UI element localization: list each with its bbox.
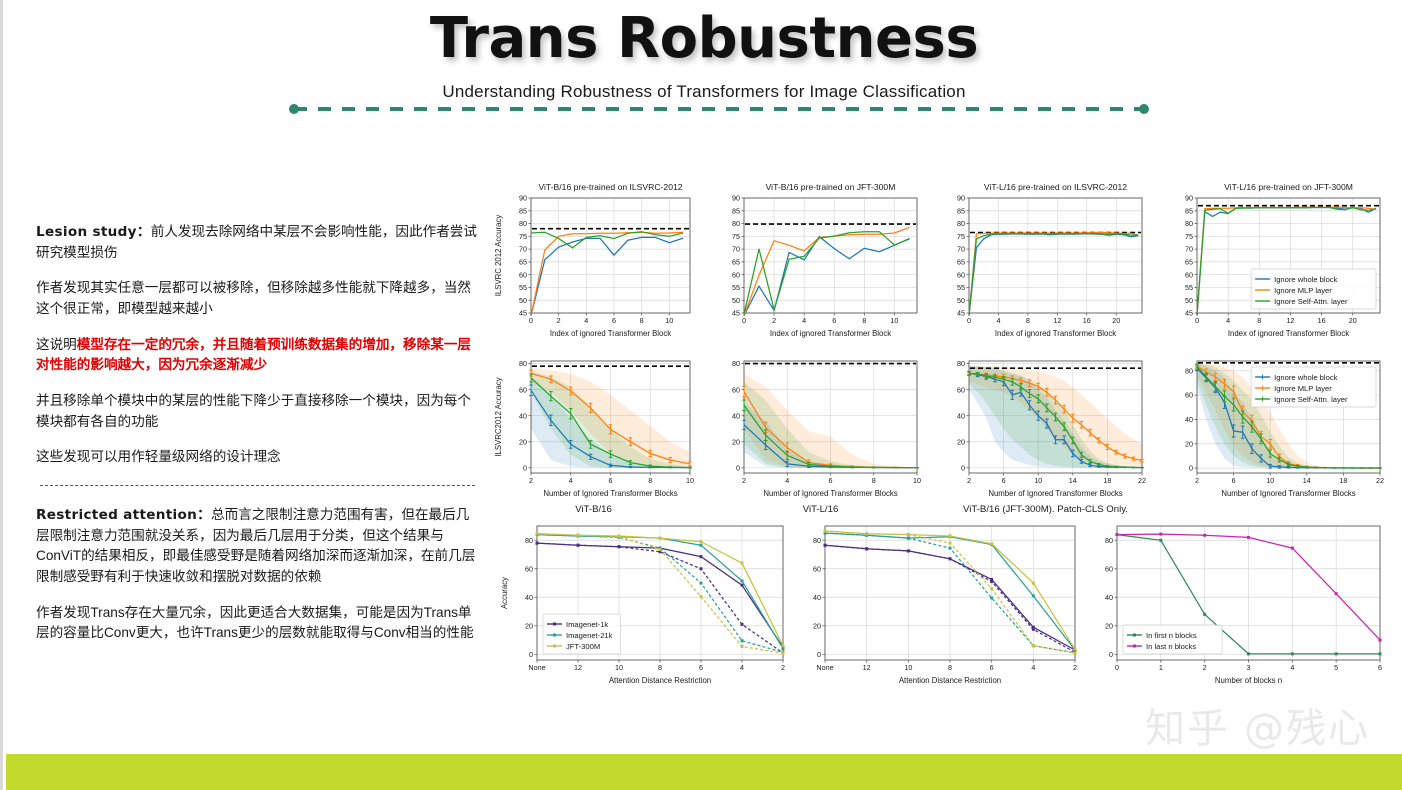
svg-text:85: 85 xyxy=(1185,206,1193,215)
svg-text:2: 2 xyxy=(1203,663,1207,672)
footer-bar xyxy=(6,754,1402,790)
note-block3: 这说明模型存在一定的冗余，并且随着预训练数据集的增加，移除某一层对性能的影响越大… xyxy=(36,335,479,376)
chart-svg-r3c2: 020406080None12108642Attention Distance … xyxy=(799,518,1081,690)
chart-r2c2: 020406080246810Number of Ignored Transfo… xyxy=(718,353,923,503)
svg-text:Number of Ignored Transformer: Number of Ignored Transformer Blocks xyxy=(988,489,1122,498)
svg-text:ViT-L/16 pre-trained on ILSVRC: ViT-L/16 pre-trained on ILSVRC-2012 xyxy=(984,182,1127,192)
svg-text:2: 2 xyxy=(529,476,533,485)
svg-text:75: 75 xyxy=(1185,232,1193,241)
svg-text:55: 55 xyxy=(957,283,965,292)
section-separator xyxy=(40,485,475,486)
svg-text:6: 6 xyxy=(612,316,616,325)
svg-text:4: 4 xyxy=(740,663,744,672)
svg-text:0: 0 xyxy=(529,316,533,325)
svg-text:Number of blocks n: Number of blocks n xyxy=(1215,676,1282,685)
svg-text:0: 0 xyxy=(1115,663,1119,672)
svg-text:6: 6 xyxy=(609,476,613,485)
svg-text:60: 60 xyxy=(519,385,527,394)
chart-r1c3: 45505560657075808590048121620Index of ig… xyxy=(943,178,1148,343)
svg-text:6: 6 xyxy=(832,316,836,325)
svg-text:80: 80 xyxy=(525,536,533,545)
note-lesion-study: Lesion study：前人发现去除网络中某层不会影响性能，因此作者尝试研究模… xyxy=(36,222,479,263)
svg-text:85: 85 xyxy=(957,206,965,215)
chart-svg-r1c1: 455055606570758085900246810Index of igno… xyxy=(491,178,696,343)
chart-caption-r2c3: ViT-B/16 (JFT-300M). Patch-CLS Only. xyxy=(943,504,1148,515)
svg-text:60: 60 xyxy=(1105,564,1113,573)
svg-text:4: 4 xyxy=(1226,316,1230,325)
svg-text:80: 80 xyxy=(1105,536,1113,545)
page-title: Trans Robustness xyxy=(3,6,1402,71)
svg-text:10: 10 xyxy=(1266,476,1274,485)
note-block5: 这些发现可以用作轻量级网络的设计理念 xyxy=(36,447,479,468)
svg-text:6: 6 xyxy=(1232,476,1236,485)
chart-r2c3: 0204060802610141822Number of Ignored Tra… xyxy=(943,353,1148,503)
svg-text:8: 8 xyxy=(658,663,662,672)
chart-svg-r1c3: 45505560657075808590048121620Index of ig… xyxy=(943,178,1148,343)
svg-text:12: 12 xyxy=(863,663,871,672)
svg-text:18: 18 xyxy=(1103,476,1111,485)
svg-text:50: 50 xyxy=(519,296,527,305)
slide-canvas: Trans Robustness Understanding Robustnes… xyxy=(0,0,1402,790)
note-restricted-attention-lead: Restricted attention： xyxy=(36,507,211,523)
svg-text:40: 40 xyxy=(525,593,533,602)
svg-text:ViT-B/16 pre-trained on ILSVRC: ViT-B/16 pre-trained on ILSVRC-2012 xyxy=(538,182,682,192)
svg-text:90: 90 xyxy=(957,194,965,203)
svg-text:45: 45 xyxy=(732,309,740,318)
svg-text:40: 40 xyxy=(957,411,965,420)
svg-text:4: 4 xyxy=(1031,663,1035,672)
svg-text:ILSVRC 2012 Accuracy: ILSVRC 2012 Accuracy xyxy=(494,215,503,297)
svg-text:20: 20 xyxy=(813,621,821,630)
svg-text:20: 20 xyxy=(1112,316,1120,325)
chart-r2c4: 0204060802610141822Number of Ignored Tra… xyxy=(1171,353,1386,503)
svg-text:85: 85 xyxy=(519,206,527,215)
svg-text:Accuracy: Accuracy xyxy=(500,577,509,609)
svg-text:70: 70 xyxy=(519,245,527,254)
svg-text:45: 45 xyxy=(957,309,965,318)
svg-text:Imagenet-21k: Imagenet-21k xyxy=(566,631,613,640)
svg-text:80: 80 xyxy=(957,359,965,368)
chart-svg-r3c1: 020406080None12108642Attention Distance … xyxy=(497,518,789,690)
svg-text:Attention Distance Restriction: Attention Distance Restriction xyxy=(609,676,711,685)
svg-text:0: 0 xyxy=(1195,316,1199,325)
note-block3-highlight: 模型存在一定的冗余，并且随着预训练数据集的增加，移除某一层对性能的影响越大，因为… xyxy=(36,337,471,373)
svg-text:4: 4 xyxy=(569,476,573,485)
svg-text:Number of Ignored Transformer: Number of Ignored Transformer Blocks xyxy=(763,489,897,498)
svg-text:80: 80 xyxy=(1185,219,1193,228)
svg-text:4: 4 xyxy=(996,316,1000,325)
svg-text:18: 18 xyxy=(1339,476,1347,485)
svg-text:ViT-L/16 pre-trained on JFT-30: ViT-L/16 pre-trained on JFT-300M xyxy=(1224,182,1353,192)
svg-text:80: 80 xyxy=(732,219,740,228)
chart-r3c2: 020406080None12108642Attention Distance … xyxy=(799,518,1081,690)
svg-text:90: 90 xyxy=(519,194,527,203)
svg-text:70: 70 xyxy=(957,245,965,254)
note-block7: 作者发现Trans存在大量冗余，因此更适合大数据集，可能是因为Trans单层的容… xyxy=(36,603,479,644)
svg-text:10: 10 xyxy=(686,476,694,485)
svg-text:60: 60 xyxy=(525,564,533,573)
svg-text:85: 85 xyxy=(732,206,740,215)
svg-text:6: 6 xyxy=(829,476,833,485)
svg-text:ILSVRC2012 Accuracy: ILSVRC2012 Accuracy xyxy=(494,377,503,456)
svg-text:10: 10 xyxy=(890,316,898,325)
svg-text:20: 20 xyxy=(732,437,740,446)
svg-text:80: 80 xyxy=(813,536,821,545)
svg-text:55: 55 xyxy=(732,283,740,292)
chart-svg-r1c2: 455055606570758085900246810Index of igno… xyxy=(718,178,923,343)
svg-text:14: 14 xyxy=(1303,476,1311,485)
svg-text:50: 50 xyxy=(732,296,740,305)
svg-text:65: 65 xyxy=(1185,257,1193,266)
svg-text:16: 16 xyxy=(1083,316,1091,325)
svg-text:20: 20 xyxy=(519,437,527,446)
svg-text:1: 1 xyxy=(1159,663,1163,672)
note-restricted-attention: Restricted attention：总而言之限制注意力范围有害，但在最后几… xyxy=(36,505,479,588)
svg-text:60: 60 xyxy=(732,270,740,279)
chart-r1c2: 455055606570758085900246810Index of igno… xyxy=(718,178,923,343)
svg-text:40: 40 xyxy=(732,411,740,420)
svg-text:In first n blocks: In first n blocks xyxy=(1146,631,1197,640)
svg-text:10: 10 xyxy=(615,663,623,672)
chart-svg-r1c4: 45505560657075808590048121620Index of ig… xyxy=(1171,178,1386,343)
svg-text:60: 60 xyxy=(813,564,821,573)
svg-text:6: 6 xyxy=(699,663,703,672)
svg-text:8: 8 xyxy=(648,476,652,485)
chart-svg-r2c3: 0204060802610141822Number of Ignored Tra… xyxy=(943,353,1148,503)
svg-text:55: 55 xyxy=(1185,283,1193,292)
svg-text:75: 75 xyxy=(519,232,527,241)
svg-text:20: 20 xyxy=(1185,439,1193,448)
svg-text:0: 0 xyxy=(523,463,527,472)
svg-text:6: 6 xyxy=(1002,476,1006,485)
svg-text:8: 8 xyxy=(1026,316,1030,325)
svg-text:Index of ignored Transformer B: Index of ignored Transformer Block xyxy=(995,329,1116,338)
svg-text:Ignore whole block: Ignore whole block xyxy=(1274,275,1338,284)
svg-text:40: 40 xyxy=(813,593,821,602)
svg-text:None: None xyxy=(528,663,545,672)
svg-text:8: 8 xyxy=(948,663,952,672)
svg-text:60: 60 xyxy=(1185,270,1193,279)
svg-text:JFT-300M: JFT-300M xyxy=(566,642,600,651)
svg-text:0: 0 xyxy=(1189,464,1193,473)
svg-text:0: 0 xyxy=(742,316,746,325)
svg-text:4: 4 xyxy=(785,476,789,485)
watermark: 知乎 @残心 xyxy=(1145,696,1370,754)
svg-text:65: 65 xyxy=(519,257,527,266)
svg-text:45: 45 xyxy=(519,309,527,318)
svg-text:10: 10 xyxy=(1034,476,1042,485)
svg-text:Index of ignored Transformer B: Index of ignored Transformer Block xyxy=(770,329,891,338)
chart-caption-r2c1: ViT-B/16 xyxy=(491,504,696,515)
svg-text:60: 60 xyxy=(1185,391,1193,400)
chart-r2c1: 020406080246810Number of Ignored Transfo… xyxy=(491,353,696,503)
svg-text:2: 2 xyxy=(557,316,561,325)
svg-text:40: 40 xyxy=(519,411,527,420)
svg-text:Number of Ignored Transformer: Number of Ignored Transformer Blocks xyxy=(543,489,677,498)
note-block4: 并且移除单个模块中的某层的性能下降少于直接移除一个模块，因为每个模块都有各自的功… xyxy=(36,391,479,432)
svg-text:2: 2 xyxy=(781,663,785,672)
svg-text:12: 12 xyxy=(1053,316,1061,325)
svg-text:20: 20 xyxy=(1349,316,1357,325)
svg-text:8: 8 xyxy=(640,316,644,325)
svg-text:22: 22 xyxy=(1138,476,1146,485)
svg-text:70: 70 xyxy=(1185,245,1193,254)
chart-r3c1: 020406080None12108642Attention Distance … xyxy=(497,518,789,690)
chart-svg-r2c4: 0204060802610141822Number of Ignored Tra… xyxy=(1171,353,1386,503)
chart-svg-r2c2: 020406080246810Number of Ignored Transfo… xyxy=(718,353,923,503)
svg-text:2: 2 xyxy=(742,476,746,485)
svg-text:0: 0 xyxy=(967,316,971,325)
svg-text:Index of ignored Transformer B: Index of ignored Transformer Block xyxy=(1228,329,1349,338)
svg-text:8: 8 xyxy=(862,316,866,325)
svg-text:5: 5 xyxy=(1334,663,1338,672)
svg-text:20: 20 xyxy=(525,621,533,630)
note-lesion-study-lead: Lesion study： xyxy=(36,224,151,240)
svg-text:8: 8 xyxy=(1257,316,1261,325)
svg-text:Index of ignored Transformer B: Index of ignored Transformer Block xyxy=(550,329,671,338)
chart-caption-r2c2: ViT-L/16 xyxy=(718,504,923,515)
svg-text:75: 75 xyxy=(957,232,965,241)
chart-svg-r2c1: 020406080246810Number of Ignored Transfo… xyxy=(491,353,696,503)
svg-text:50: 50 xyxy=(957,296,965,305)
svg-text:90: 90 xyxy=(732,194,740,203)
svg-text:60: 60 xyxy=(732,385,740,394)
svg-text:Ignore MLP layer: Ignore MLP layer xyxy=(1274,384,1332,393)
svg-text:45: 45 xyxy=(1185,309,1193,318)
svg-text:0: 0 xyxy=(961,463,965,472)
svg-text:10: 10 xyxy=(904,663,912,672)
svg-text:14: 14 xyxy=(1069,476,1077,485)
svg-text:Imagenet-1k: Imagenet-1k xyxy=(566,620,608,629)
svg-text:75: 75 xyxy=(732,232,740,241)
svg-text:20: 20 xyxy=(1105,621,1113,630)
svg-text:6: 6 xyxy=(1378,663,1382,672)
chart-r1c4: 45505560657075808590048121620Index of ig… xyxy=(1171,178,1386,343)
svg-text:Ignore Self-Attn. layer: Ignore Self-Attn. layer xyxy=(1274,395,1348,404)
svg-text:60: 60 xyxy=(957,270,965,279)
svg-text:22: 22 xyxy=(1376,476,1384,485)
svg-text:10: 10 xyxy=(913,476,921,485)
svg-text:Ignore MLP layer: Ignore MLP layer xyxy=(1274,286,1332,295)
svg-text:80: 80 xyxy=(732,359,740,368)
svg-text:4: 4 xyxy=(1290,663,1294,672)
svg-text:80: 80 xyxy=(957,219,965,228)
notes-column: Lesion study：前人发现去除网络中某层不会影响性能，因此作者尝试研究模… xyxy=(36,222,479,644)
svg-text:80: 80 xyxy=(519,219,527,228)
figure-grid: 455055606570758085900246810Index of igno… xyxy=(491,168,1396,698)
svg-text:Attention Distance Restriction: Attention Distance Restriction xyxy=(899,676,1001,685)
svg-text:70: 70 xyxy=(732,245,740,254)
decorative-divider xyxy=(288,104,1150,114)
svg-text:65: 65 xyxy=(732,257,740,266)
svg-text:0: 0 xyxy=(817,650,821,659)
svg-text:Ignore whole block: Ignore whole block xyxy=(1274,373,1338,382)
svg-text:0: 0 xyxy=(736,463,740,472)
svg-text:40: 40 xyxy=(1105,593,1113,602)
svg-text:ViT-B/16 pre-trained on JFT-30: ViT-B/16 pre-trained on JFT-300M xyxy=(766,182,896,192)
note-block2: 作者发现其实任意一层都可以被移除，但移除越多性能就下降越多，当然这个很正常，即模… xyxy=(36,278,479,319)
svg-text:0: 0 xyxy=(1109,650,1113,659)
svg-text:In last n blocks: In last n blocks xyxy=(1146,642,1196,651)
svg-text:80: 80 xyxy=(519,359,527,368)
svg-text:6: 6 xyxy=(990,663,994,672)
svg-text:55: 55 xyxy=(519,283,527,292)
chart-r3c3: 0204060800123456Number of blocks nIn fir… xyxy=(1091,518,1386,690)
svg-text:4: 4 xyxy=(584,316,588,325)
svg-text:10: 10 xyxy=(665,316,673,325)
svg-text:0: 0 xyxy=(529,650,533,659)
svg-text:90: 90 xyxy=(1185,194,1193,203)
svg-text:None: None xyxy=(816,663,833,672)
note-block3-prefix: 这说明 xyxy=(36,337,77,352)
svg-text:2: 2 xyxy=(772,316,776,325)
svg-text:65: 65 xyxy=(957,257,965,266)
page-subtitle: Understanding Robustness of Transformers… xyxy=(3,82,1402,102)
svg-text:20: 20 xyxy=(957,437,965,446)
svg-text:2: 2 xyxy=(1073,663,1077,672)
svg-text:16: 16 xyxy=(1318,316,1326,325)
svg-text:Ignore Self-Attn. layer: Ignore Self-Attn. layer xyxy=(1274,297,1348,306)
svg-text:60: 60 xyxy=(519,270,527,279)
svg-text:60: 60 xyxy=(957,385,965,394)
svg-text:8: 8 xyxy=(872,476,876,485)
svg-text:12: 12 xyxy=(574,663,582,672)
chart-r1c1: 455055606570758085900246810Index of igno… xyxy=(491,178,696,343)
svg-text:12: 12 xyxy=(1286,316,1294,325)
svg-text:80: 80 xyxy=(1185,366,1193,375)
chart-svg-r3c3: 0204060800123456Number of blocks nIn fir… xyxy=(1091,518,1386,690)
svg-text:2: 2 xyxy=(1195,476,1199,485)
svg-text:50: 50 xyxy=(1185,296,1193,305)
svg-text:2: 2 xyxy=(967,476,971,485)
svg-text:40: 40 xyxy=(1185,415,1193,424)
svg-text:3: 3 xyxy=(1247,663,1251,672)
svg-text:4: 4 xyxy=(802,316,806,325)
svg-text:Number of Ignored Transformer: Number of Ignored Transformer Blocks xyxy=(1221,489,1355,498)
